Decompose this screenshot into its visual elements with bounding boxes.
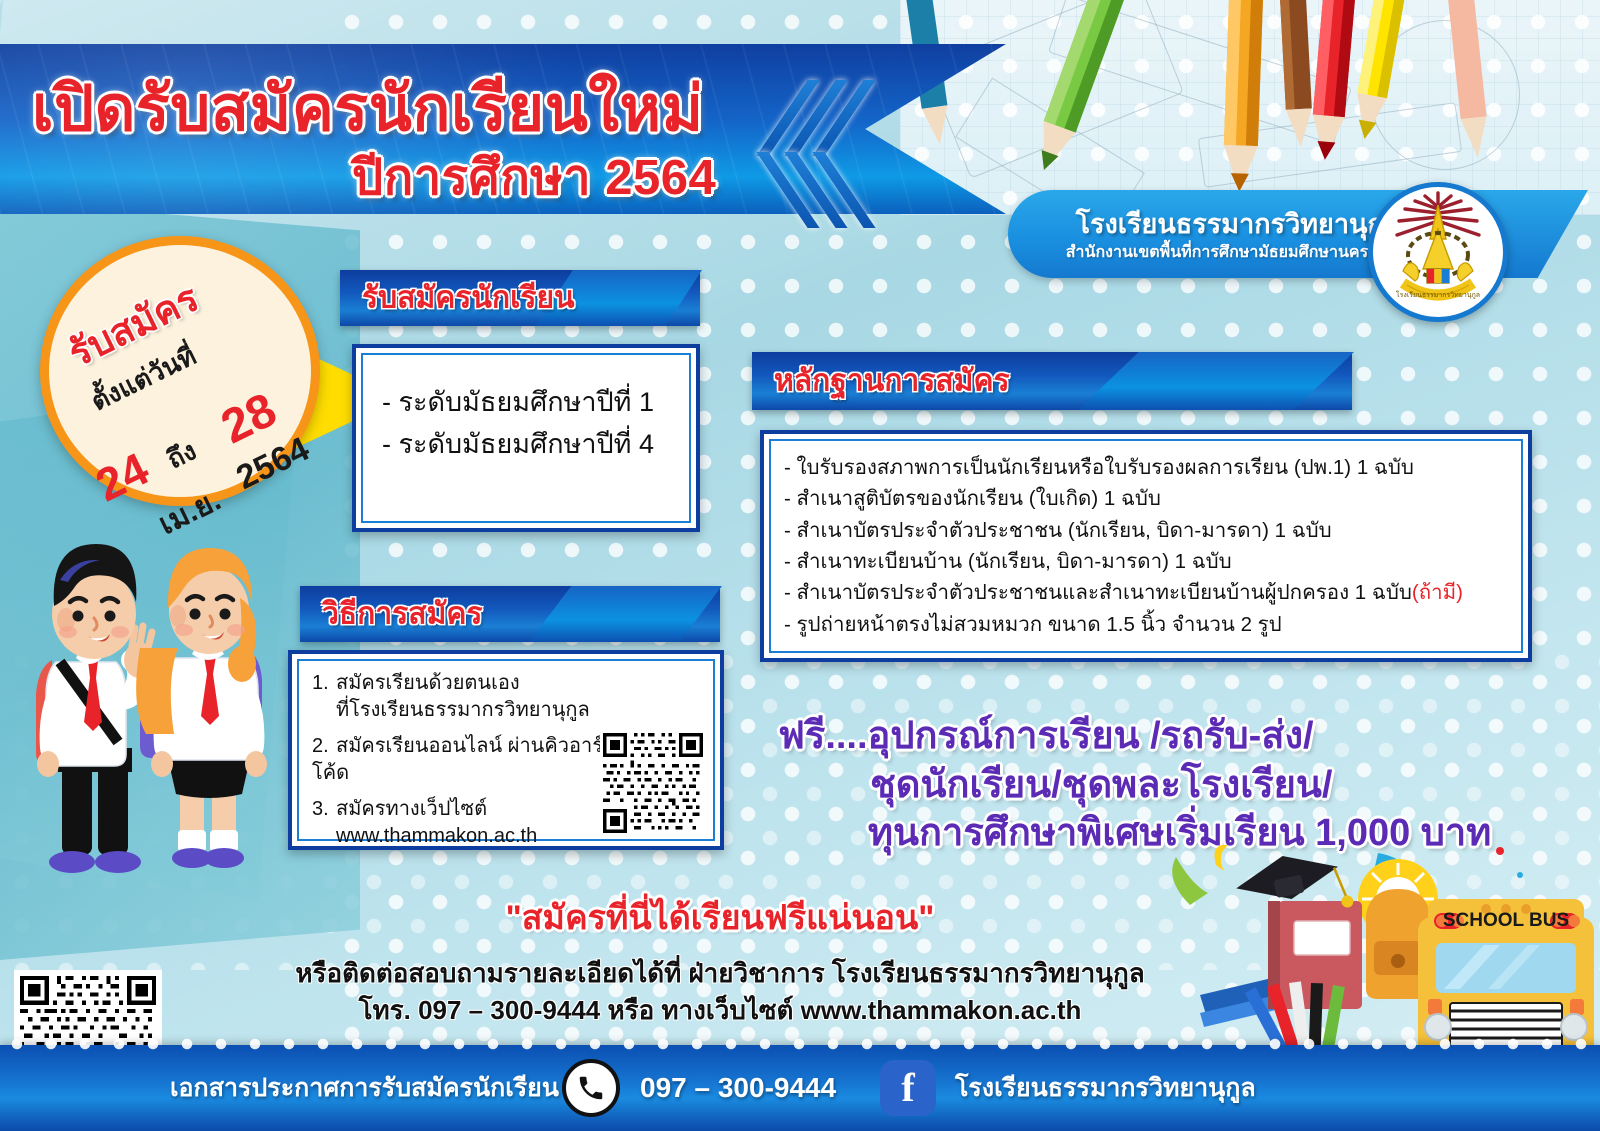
document-note: (ถ้ามี) <box>1412 581 1463 604</box>
item-number: 2. <box>312 733 336 760</box>
list-item: 1.สมัครเรียนด้วยตนเอง ที่โรงเรียนธรรมากร… <box>312 670 612 724</box>
how-to-apply-panel-heading: วิธีการสมัคร <box>300 586 720 642</box>
item-text: สมัครทางเว็ปไซต์ <box>336 798 487 820</box>
free-benefits-line-1: ฟรี....อุปกรณ์การเรียน /รถรับ-ส่ง/ <box>760 712 1550 761</box>
item-number: 1. <box>312 670 336 697</box>
page-subtitle-year: ปีการศึกษา 2564 <box>352 138 716 216</box>
how-to-apply-panel-body: 1.สมัครเรียนด้วยตนเอง ที่โรงเรียนธรรมากร… <box>288 650 724 850</box>
footer-dot-trim <box>0 1035 1600 1053</box>
list-item: 2.สมัครเรียนออนไลน์ ผ่านคิวอาร์โค้ด <box>312 733 612 787</box>
document-text: - สำเนาบัตรประจำตัวประชาชน (นักเรียน, บิ… <box>784 519 1332 542</box>
levels-heading-text: รับสมัครนักเรียน <box>362 275 575 322</box>
item-subtext: ที่โรงเรียนธรรมากรวิทยานุกูล <box>312 697 612 724</box>
document-text: - รูปถ่ายหน้าตรงไม่สวมหมวก ขนาด 1.5 นิ้ว… <box>784 613 1282 636</box>
footer-facebook-name[interactable]: โรงเรียนธรรมากรวิทยานุกูล <box>955 1068 1256 1108</box>
levels-panel-body: - ระดับมัธยมศึกษาปีที่ 1 - ระดับมัธยมศึก… <box>352 344 700 532</box>
list-item: - ใบรับรองสภาพการเป็นนักเรียนหรือใบรับรอ… <box>784 452 1463 483</box>
documents-panel-body: - ใบรับรองสภาพการเป็นนักเรียนหรือใบรับรอ… <box>760 430 1532 662</box>
document-text: - สำเนาทะเบียนบ้าน (นักเรียน, บิดา-มารดา… <box>784 550 1232 573</box>
how-to-apply-list: 1.สมัครเรียนด้วยตนเอง ที่โรงเรียนธรรมากร… <box>312 670 612 859</box>
footer-label: เอกสารประกาศการรับสมัครนักเรียน <box>170 1068 559 1108</box>
facebook-icon[interactable]: f <box>880 1060 936 1116</box>
free-benefits-block: ฟรี....อุปกรณ์การเรียน /รถรับ-ส่ง/ ชุดนั… <box>760 712 1550 858</box>
application-period-badge: รับสมัคร ตั้งแต่วันที่ 24 ถึง 28 เม.ย. 2… <box>40 236 320 506</box>
list-item: - ระดับมัธยมศึกษาปีที่ 1 <box>382 382 654 424</box>
svg-text:โรงเรียนธรรมากรวิทยานุกูล: โรงเรียนธรรมากรวิทยานุกูล <box>1396 290 1480 299</box>
students-illustration <box>10 510 310 880</box>
document-text: - สำเนาสูติบัตรของนักเรียน (ใบเกิด) 1 ฉบ… <box>784 487 1161 510</box>
document-text: - สำเนาบัตรประจำตัวประชาชนและสำเนาทะเบีย… <box>784 581 1412 604</box>
footer-phone-number[interactable]: 097 – 300-9444 <box>640 1072 836 1104</box>
phone-icon <box>562 1059 620 1117</box>
list-item: 3.สมัครทางเว็ปไซต์ www.thammakon.ac.th <box>312 796 612 850</box>
list-item: - สำเนาสูติบัตรของนักเรียน (ใบเกิด) 1 ฉบ… <box>784 483 1463 514</box>
list-item: - สำเนาบัตรประจำตัวประชาชนและสำเนาทะเบีย… <box>784 577 1463 608</box>
qr-code-icon[interactable] <box>600 730 706 836</box>
item-text: สมัครเรียนด้วยตนเอง <box>336 672 520 694</box>
list-item: - สำเนาบัตรประจำตัวประชาชน (นักเรียน, บิ… <box>784 515 1463 546</box>
documents-list: - ใบรับรองสภาพการเป็นนักเรียนหรือใบรับรอ… <box>784 452 1463 640</box>
poster-root: เปิดรับสมัครนักเรียนใหม่ ปีการศึกษา 2564… <box>0 0 1600 1131</box>
svg-text:SCHOOL BUS: SCHOOL BUS <box>1443 910 1569 931</box>
document-text: - ใบรับรองสภาพการเป็นนักเรียนหรือใบรับรอ… <box>784 456 1414 479</box>
list-item: - สำเนาทะเบียนบ้าน (นักเรียน, บิดา-มารดา… <box>784 546 1463 577</box>
school-crest-icon: โรงเรียนธรรมากรวิทยานุกูล <box>1368 182 1508 322</box>
free-benefits-line-2: ชุดนักเรียน/ชุดพละโรงเรียน/ <box>760 761 1550 810</box>
colored-pencils-illustration <box>900 0 1600 215</box>
how-to-apply-heading-text: วิธีการสมัคร <box>322 591 483 638</box>
footer-bar: เอกสารประกาศการรับสมัครนักเรียน 097 – 30… <box>0 1045 1600 1131</box>
date-to-label: ถึง <box>160 431 204 480</box>
list-item: - รูปถ่ายหน้าตรงไม่สวมหมวก ขนาด 1.5 นิ้ว… <box>784 609 1463 640</box>
documents-heading-text: หลักฐานการสมัคร <box>774 358 1010 405</box>
levels-list: - ระดับมัธยมศึกษาปีที่ 1 - ระดับมัธยมศึก… <box>382 382 654 466</box>
list-item: - ระดับมัธยมศึกษาปีที่ 4 <box>382 424 654 466</box>
website-url[interactable]: www.thammakon.ac.th <box>312 823 612 850</box>
documents-panel-heading: หลักฐานการสมัคร <box>752 352 1352 410</box>
item-number: 3. <box>312 796 336 823</box>
item-text: สมัครเรียนออนไลน์ ผ่านคิวอาร์โค้ด <box>312 735 603 784</box>
levels-panel-heading: รับสมัครนักเรียน <box>340 270 700 326</box>
